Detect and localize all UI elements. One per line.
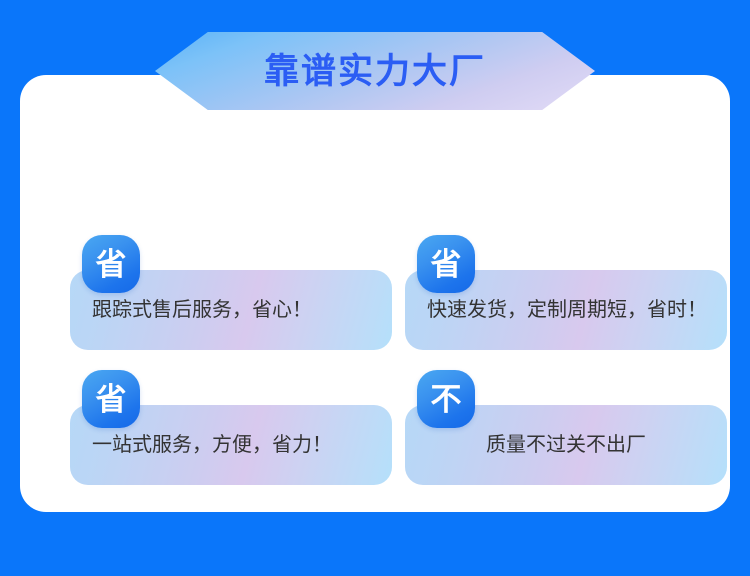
promo-page: 跟踪式售后服务，省心！ 省 快速发货，定制周期短，省时！ 省 一站式服务，方便，…: [0, 0, 750, 576]
feature-badge-label: 省: [431, 249, 462, 280]
feature-badge: 省: [82, 370, 140, 428]
feature-badge: 省: [417, 235, 475, 293]
feature-card[interactable]: 跟踪式售后服务，省心！ 省: [70, 235, 392, 350]
section-banner: 靠谱实力大厂: [155, 32, 595, 110]
feature-card[interactable]: 一站式服务，方便，省力！ 省: [70, 370, 392, 485]
banner-title: 靠谱实力大厂: [264, 54, 486, 89]
feature-card-text: 质量不过关不出厂: [486, 435, 646, 455]
feature-badge-label: 省: [96, 384, 127, 415]
feature-badge: 不: [417, 370, 475, 428]
feature-badge: 省: [82, 235, 140, 293]
feature-card-text: 快速发货，定制周期短，省时！: [427, 300, 707, 320]
feature-card-text: 跟踪式售后服务，省心！: [92, 300, 312, 320]
content-panel: 跟踪式售后服务，省心！ 省 快速发货，定制周期短，省时！ 省 一站式服务，方便，…: [20, 75, 730, 512]
feature-card-grid: 跟踪式售后服务，省心！ 省 快速发货，定制周期短，省时！ 省 一站式服务，方便，…: [70, 235, 720, 495]
feature-card-text: 一站式服务，方便，省力！: [92, 435, 332, 455]
feature-card[interactable]: 快速发货，定制周期短，省时！ 省: [405, 235, 727, 350]
feature-badge-label: 不: [431, 384, 462, 415]
feature-badge-label: 省: [96, 249, 127, 280]
feature-card[interactable]: 质量不过关不出厂 不: [405, 370, 727, 485]
